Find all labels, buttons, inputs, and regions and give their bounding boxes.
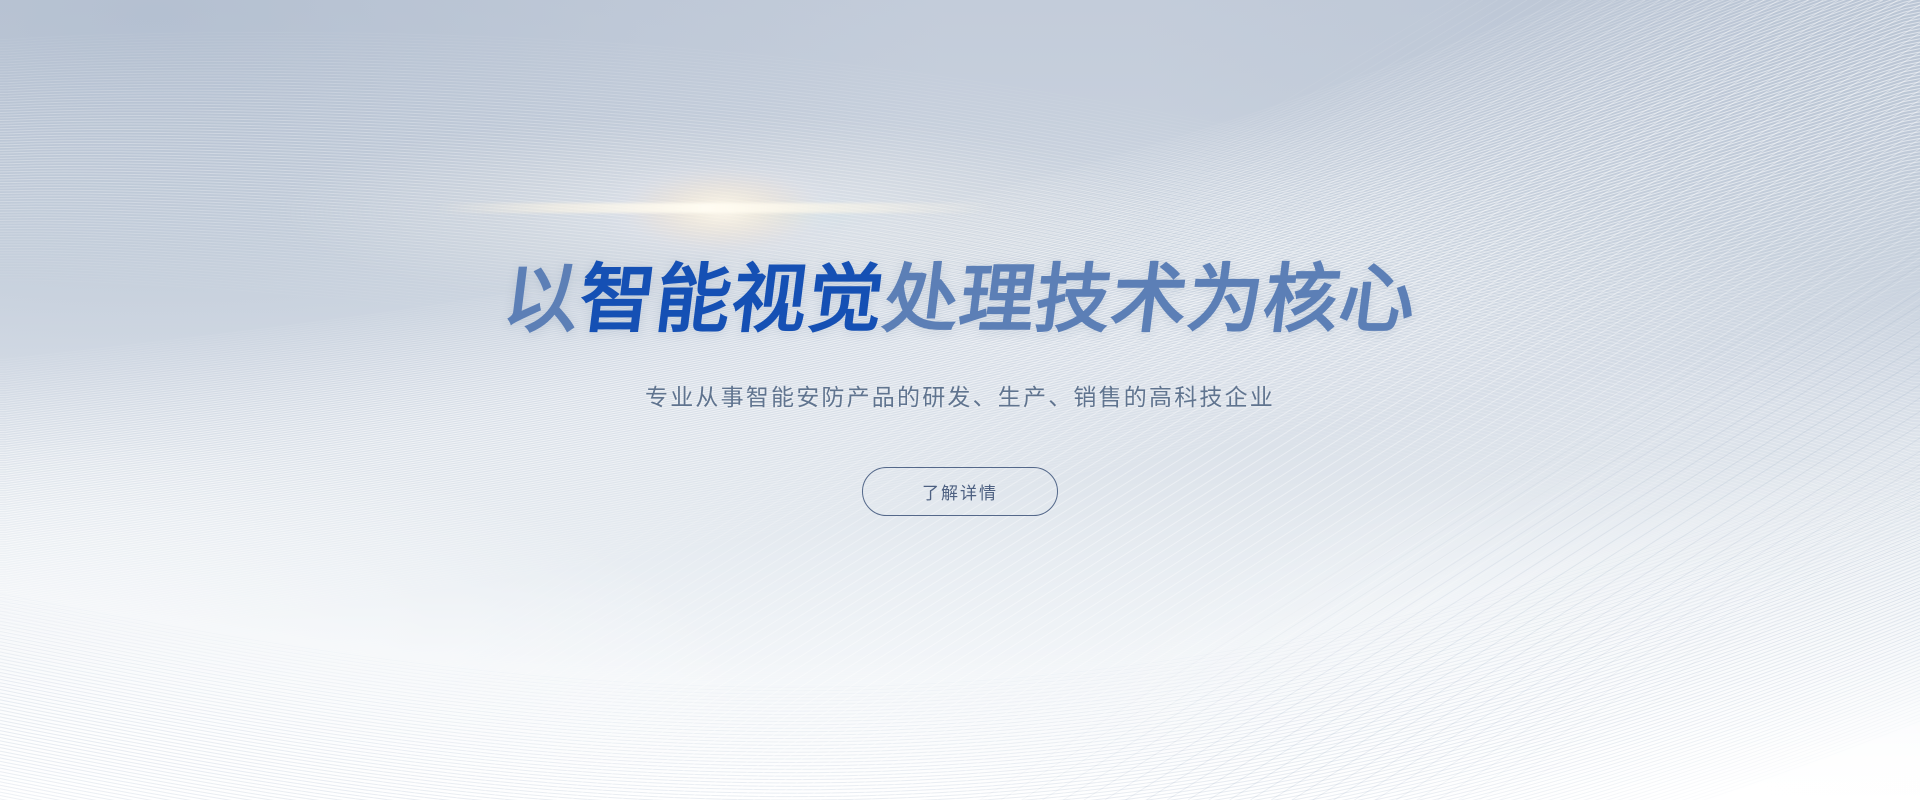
- headline-segment-1: 以: [499, 262, 584, 337]
- hero-content: 以智能视觉处理技术为核心 专业从事智能安防产品的研发、生产、销售的高科技企业 了…: [0, 0, 1920, 800]
- background-tint-top-left: [0, 0, 1920, 800]
- hero-banner: 以智能视觉处理技术为核心 专业从事智能安防产品的研发、生产、销售的高科技企业 了…: [0, 0, 1920, 800]
- lens-flare-chromatic: [695, 191, 905, 237]
- learn-more-button[interactable]: 了解详情: [862, 467, 1058, 516]
- page-subtitle: 专业从事智能安防产品的研发、生产、销售的高科技企业: [645, 378, 1275, 412]
- wave-pattern-decoration: [0, 0, 1920, 800]
- cta-container: 了解详情: [862, 467, 1058, 516]
- background-tint-bottom-right: [0, 0, 1920, 800]
- headline-segment-2: 智能视觉: [575, 262, 888, 337]
- lens-flare-halo: [272, 122, 1172, 302]
- page-title: 以智能视觉处理技术为核心: [499, 256, 1422, 342]
- lens-flare-core: [607, 164, 837, 256]
- headline-segment-3: 处理技术为核心: [879, 262, 1420, 337]
- lens-flare-streak: [435, 203, 995, 213]
- background-tint-top-right: [0, 0, 1920, 800]
- background-tint-bottom-left: [0, 0, 1920, 800]
